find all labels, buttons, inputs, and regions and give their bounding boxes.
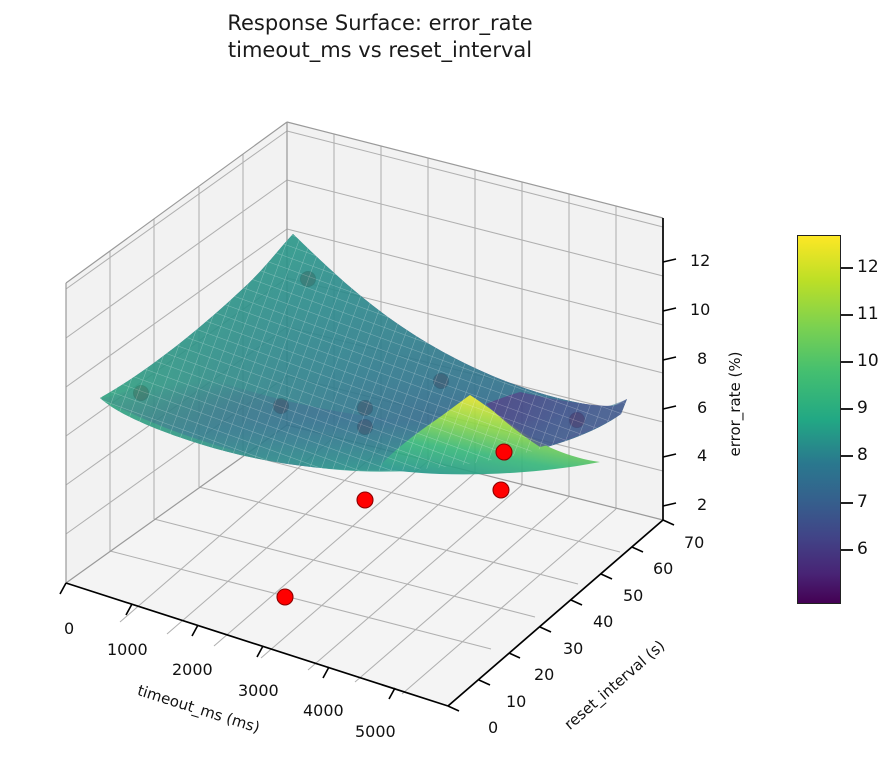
x-tick-label: 2000 xyxy=(172,660,213,679)
x-tick-label: 4000 xyxy=(303,701,344,720)
x-tick-label: 1000 xyxy=(107,640,148,659)
x-tick-label: 0 xyxy=(64,619,74,638)
z-tick-label: 6 xyxy=(697,398,707,417)
colorbar-label: error_rate (%) xyxy=(726,351,744,456)
colorbar-tick-label: 9 xyxy=(857,398,868,418)
colorbar-tick xyxy=(841,267,853,269)
colorbar-tick xyxy=(841,361,853,363)
colorbar-tick-label: 11 xyxy=(857,304,879,324)
colorbar-tick xyxy=(841,314,853,316)
colorbar-tick-label: 6 xyxy=(857,539,868,559)
colorbar-tick xyxy=(841,455,853,457)
x-tick-label: 5000 xyxy=(355,722,396,741)
scatter-point xyxy=(357,492,373,508)
y-tick-label: 30 xyxy=(563,639,583,658)
y-tick-label: 0 xyxy=(488,718,498,737)
colorbar-tick-label: 10 xyxy=(857,351,879,371)
z-tick-label: 8 xyxy=(697,349,707,368)
colorbar-gradient xyxy=(798,236,840,603)
y-tick-label: 60 xyxy=(653,559,673,578)
z-tick-label: 10 xyxy=(690,300,710,319)
colorbar-tick xyxy=(841,408,853,410)
colorbar-tick-label: 7 xyxy=(857,492,868,512)
y-tick-label: 10 xyxy=(506,692,526,711)
z-tick-label: 2 xyxy=(697,495,707,514)
x-tick-label: 3000 xyxy=(238,681,279,700)
scatter-point xyxy=(277,589,293,605)
colorbar-tick-label: 8 xyxy=(857,445,868,465)
colorbar[interactable] xyxy=(797,235,841,604)
colorbar-tick xyxy=(841,502,853,504)
z-tick-label: 4 xyxy=(697,446,707,465)
y-tick-label: 40 xyxy=(593,612,613,631)
colorbar-tick xyxy=(841,549,853,551)
y-tick-label: 50 xyxy=(623,586,643,605)
figure-canvas: Response Surface: error_rate timeout_ms … xyxy=(0,0,896,765)
scatter-point xyxy=(496,444,512,460)
y-tick-label: 70 xyxy=(684,533,704,552)
scatter-point xyxy=(493,482,509,498)
colorbar-tick-label: 12 xyxy=(857,257,879,277)
y-tick-label: 20 xyxy=(534,665,554,684)
z-tick-label: 12 xyxy=(690,251,710,270)
